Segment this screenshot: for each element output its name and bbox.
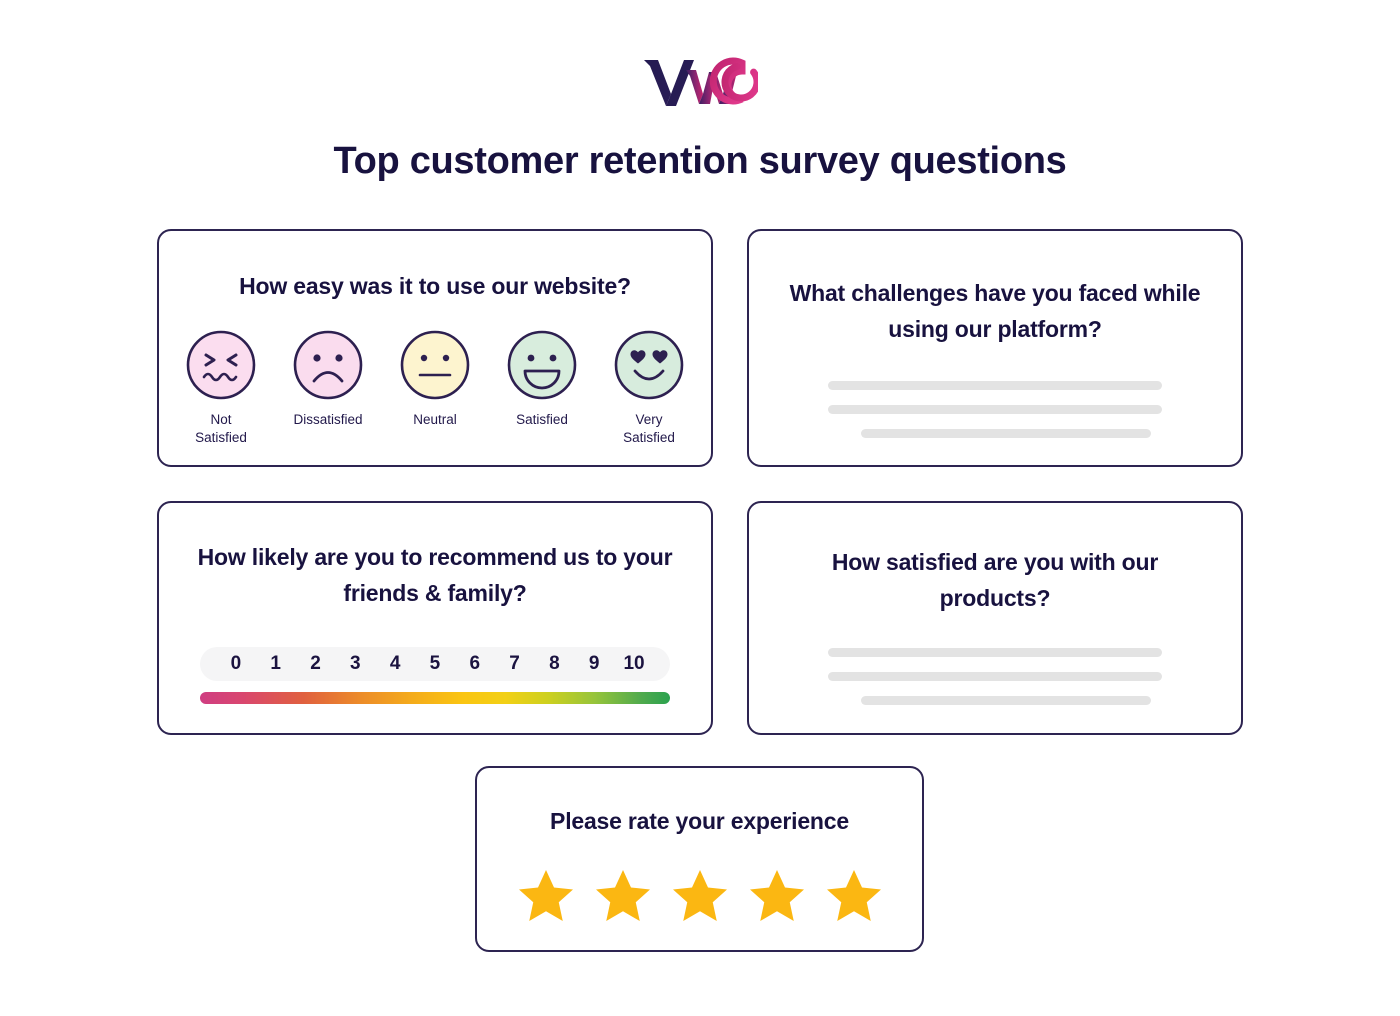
star-icon-2[interactable] <box>592 866 654 926</box>
vwo-logo-icon <box>642 54 758 108</box>
grinning-face-icon <box>506 329 578 401</box>
emoji-option-very-satisfied[interactable]: Very Satisfied <box>611 329 687 447</box>
nps-number-7[interactable]: 7 <box>495 653 535 675</box>
vwo-logo <box>0 50 1400 112</box>
heart-eyes-face-icon <box>613 329 685 401</box>
nps-number-10[interactable]: 10 <box>614 653 654 675</box>
emoji-option-neutral[interactable]: Neutral <box>397 329 473 429</box>
squinting-wavy-mouth-icon <box>185 329 257 401</box>
question-satisfaction: How satisfied are you with our products? <box>749 545 1241 616</box>
nps-number-1[interactable]: 1 <box>256 653 296 675</box>
star-icon-3[interactable] <box>669 866 731 926</box>
answer-line <box>828 672 1162 681</box>
nps-number-5[interactable]: 5 <box>415 653 455 675</box>
emoji-label-dissatisfied: Dissatisfied <box>293 411 362 429</box>
emoji-option-not-satisfied[interactable]: Not Satisfied <box>183 329 259 447</box>
nps-number-6[interactable]: 6 <box>455 653 495 675</box>
nps-number-row: 0 1 2 3 4 5 6 7 8 9 10 <box>200 647 670 681</box>
nps-number-9[interactable]: 9 <box>574 653 614 675</box>
emoji-option-satisfied[interactable]: Satisfied <box>504 329 580 429</box>
star-rating-row <box>477 866 922 926</box>
nps-gradient-bar <box>200 692 670 704</box>
question-challenges: What challenges have you faced while usi… <box>749 276 1241 347</box>
question-website-ease: How easy was it to use our website? <box>159 269 711 305</box>
emoji-label-satisfied: Satisfied <box>516 411 568 429</box>
emoji-label-neutral: Neutral <box>413 411 457 429</box>
nps-number-8[interactable]: 8 <box>535 653 575 675</box>
card-nps: How likely are you to recommend us to yo… <box>157 501 713 735</box>
nps-number-4[interactable]: 4 <box>375 653 415 675</box>
answer-placeholder-satisfaction[interactable] <box>749 648 1241 705</box>
emoji-rating-scale: Not Satisfied Dissatisfied Neutral <box>159 329 711 447</box>
page-title: Top customer retention survey questions <box>0 140 1400 183</box>
emoji-option-dissatisfied[interactable]: Dissatisfied <box>290 329 366 429</box>
question-star-rating: Please rate your experience <box>477 804 922 840</box>
answer-line <box>861 696 1151 705</box>
answer-placeholder-challenges[interactable] <box>749 381 1241 438</box>
emoji-label-not-satisfied: Not Satisfied <box>195 411 247 447</box>
question-nps: How likely are you to recommend us to yo… <box>159 540 711 611</box>
star-icon-4[interactable] <box>746 866 808 926</box>
emoji-label-very-satisfied: Very Satisfied <box>623 411 675 447</box>
card-website-ease: How easy was it to use our website? Not … <box>157 229 713 467</box>
answer-line <box>828 405 1162 414</box>
nps-number-0[interactable]: 0 <box>216 653 256 675</box>
frowning-face-icon <box>292 329 364 401</box>
answer-line <box>861 429 1151 438</box>
card-star-rating: Please rate your experience <box>475 766 924 952</box>
star-icon-1[interactable] <box>515 866 577 926</box>
answer-line <box>828 648 1162 657</box>
nps-scale: 0 1 2 3 4 5 6 7 8 9 10 <box>200 647 670 704</box>
nps-number-2[interactable]: 2 <box>296 653 336 675</box>
answer-line <box>828 381 1162 390</box>
nps-number-3[interactable]: 3 <box>335 653 375 675</box>
star-icon-5[interactable] <box>823 866 885 926</box>
neutral-face-icon <box>399 329 471 401</box>
card-satisfaction: How satisfied are you with our products? <box>747 501 1243 735</box>
card-challenges: What challenges have you faced while usi… <box>747 229 1243 467</box>
